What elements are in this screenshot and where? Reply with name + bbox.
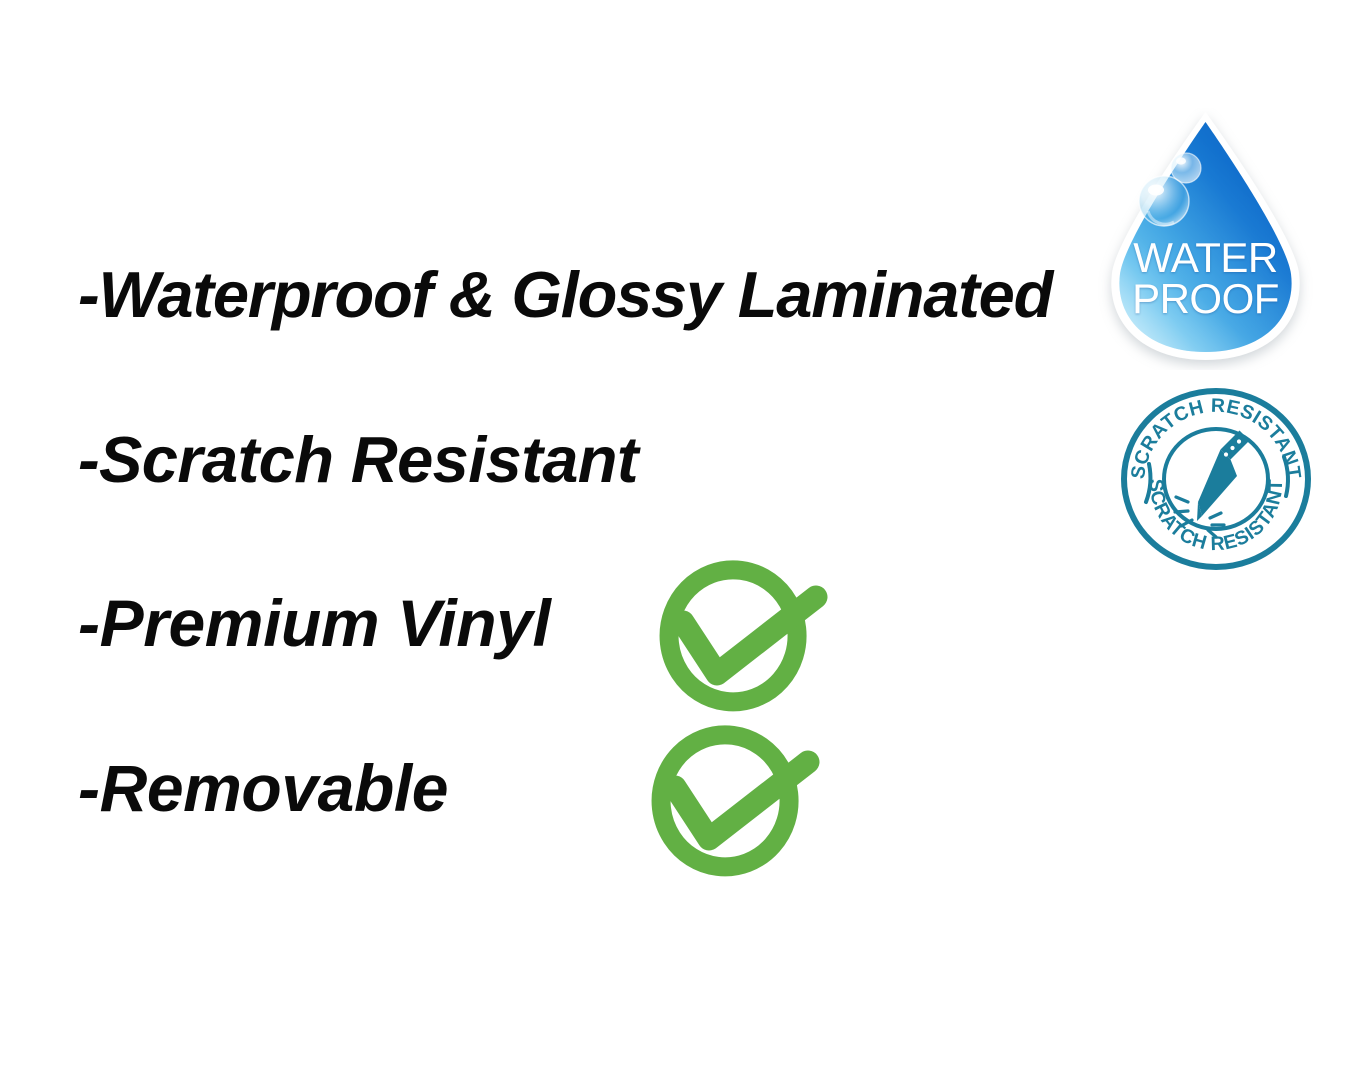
checkmark-premium-vinyl [636,556,836,716]
check-circle-icon [636,556,836,716]
bubble-large-icon [1139,176,1189,226]
scratch-resistant-badge: SCRATCH RESISTANT SCRATCH RESISTANT [1118,384,1314,570]
check-circle-icon [628,721,828,881]
scratch-resistant-seal-icon: SCRATCH RESISTANT SCRATCH RESISTANT [1118,384,1314,570]
feature-list: -Waterproof & Glossy Laminated -Scratch … [0,0,1100,1080]
drop-gloss [1119,122,1291,352]
waterproof-badge: WATER PROOF [1098,108,1313,370]
checkmark-removable [628,721,828,881]
feature-item-removable: -Removable [78,755,448,821]
feature-item-waterproof-glossy-laminated: -Waterproof & Glossy Laminated [78,262,1052,328]
feature-item-scratch-resistant: -Scratch Resistant [78,427,638,493]
feature-item-premium-vinyl: -Premium Vinyl [78,590,550,656]
product-feature-graphic: -Waterproof & Glossy Laminated -Scratch … [0,0,1359,1080]
knife-icon [1197,431,1250,522]
water-drop-icon [1098,108,1313,370]
